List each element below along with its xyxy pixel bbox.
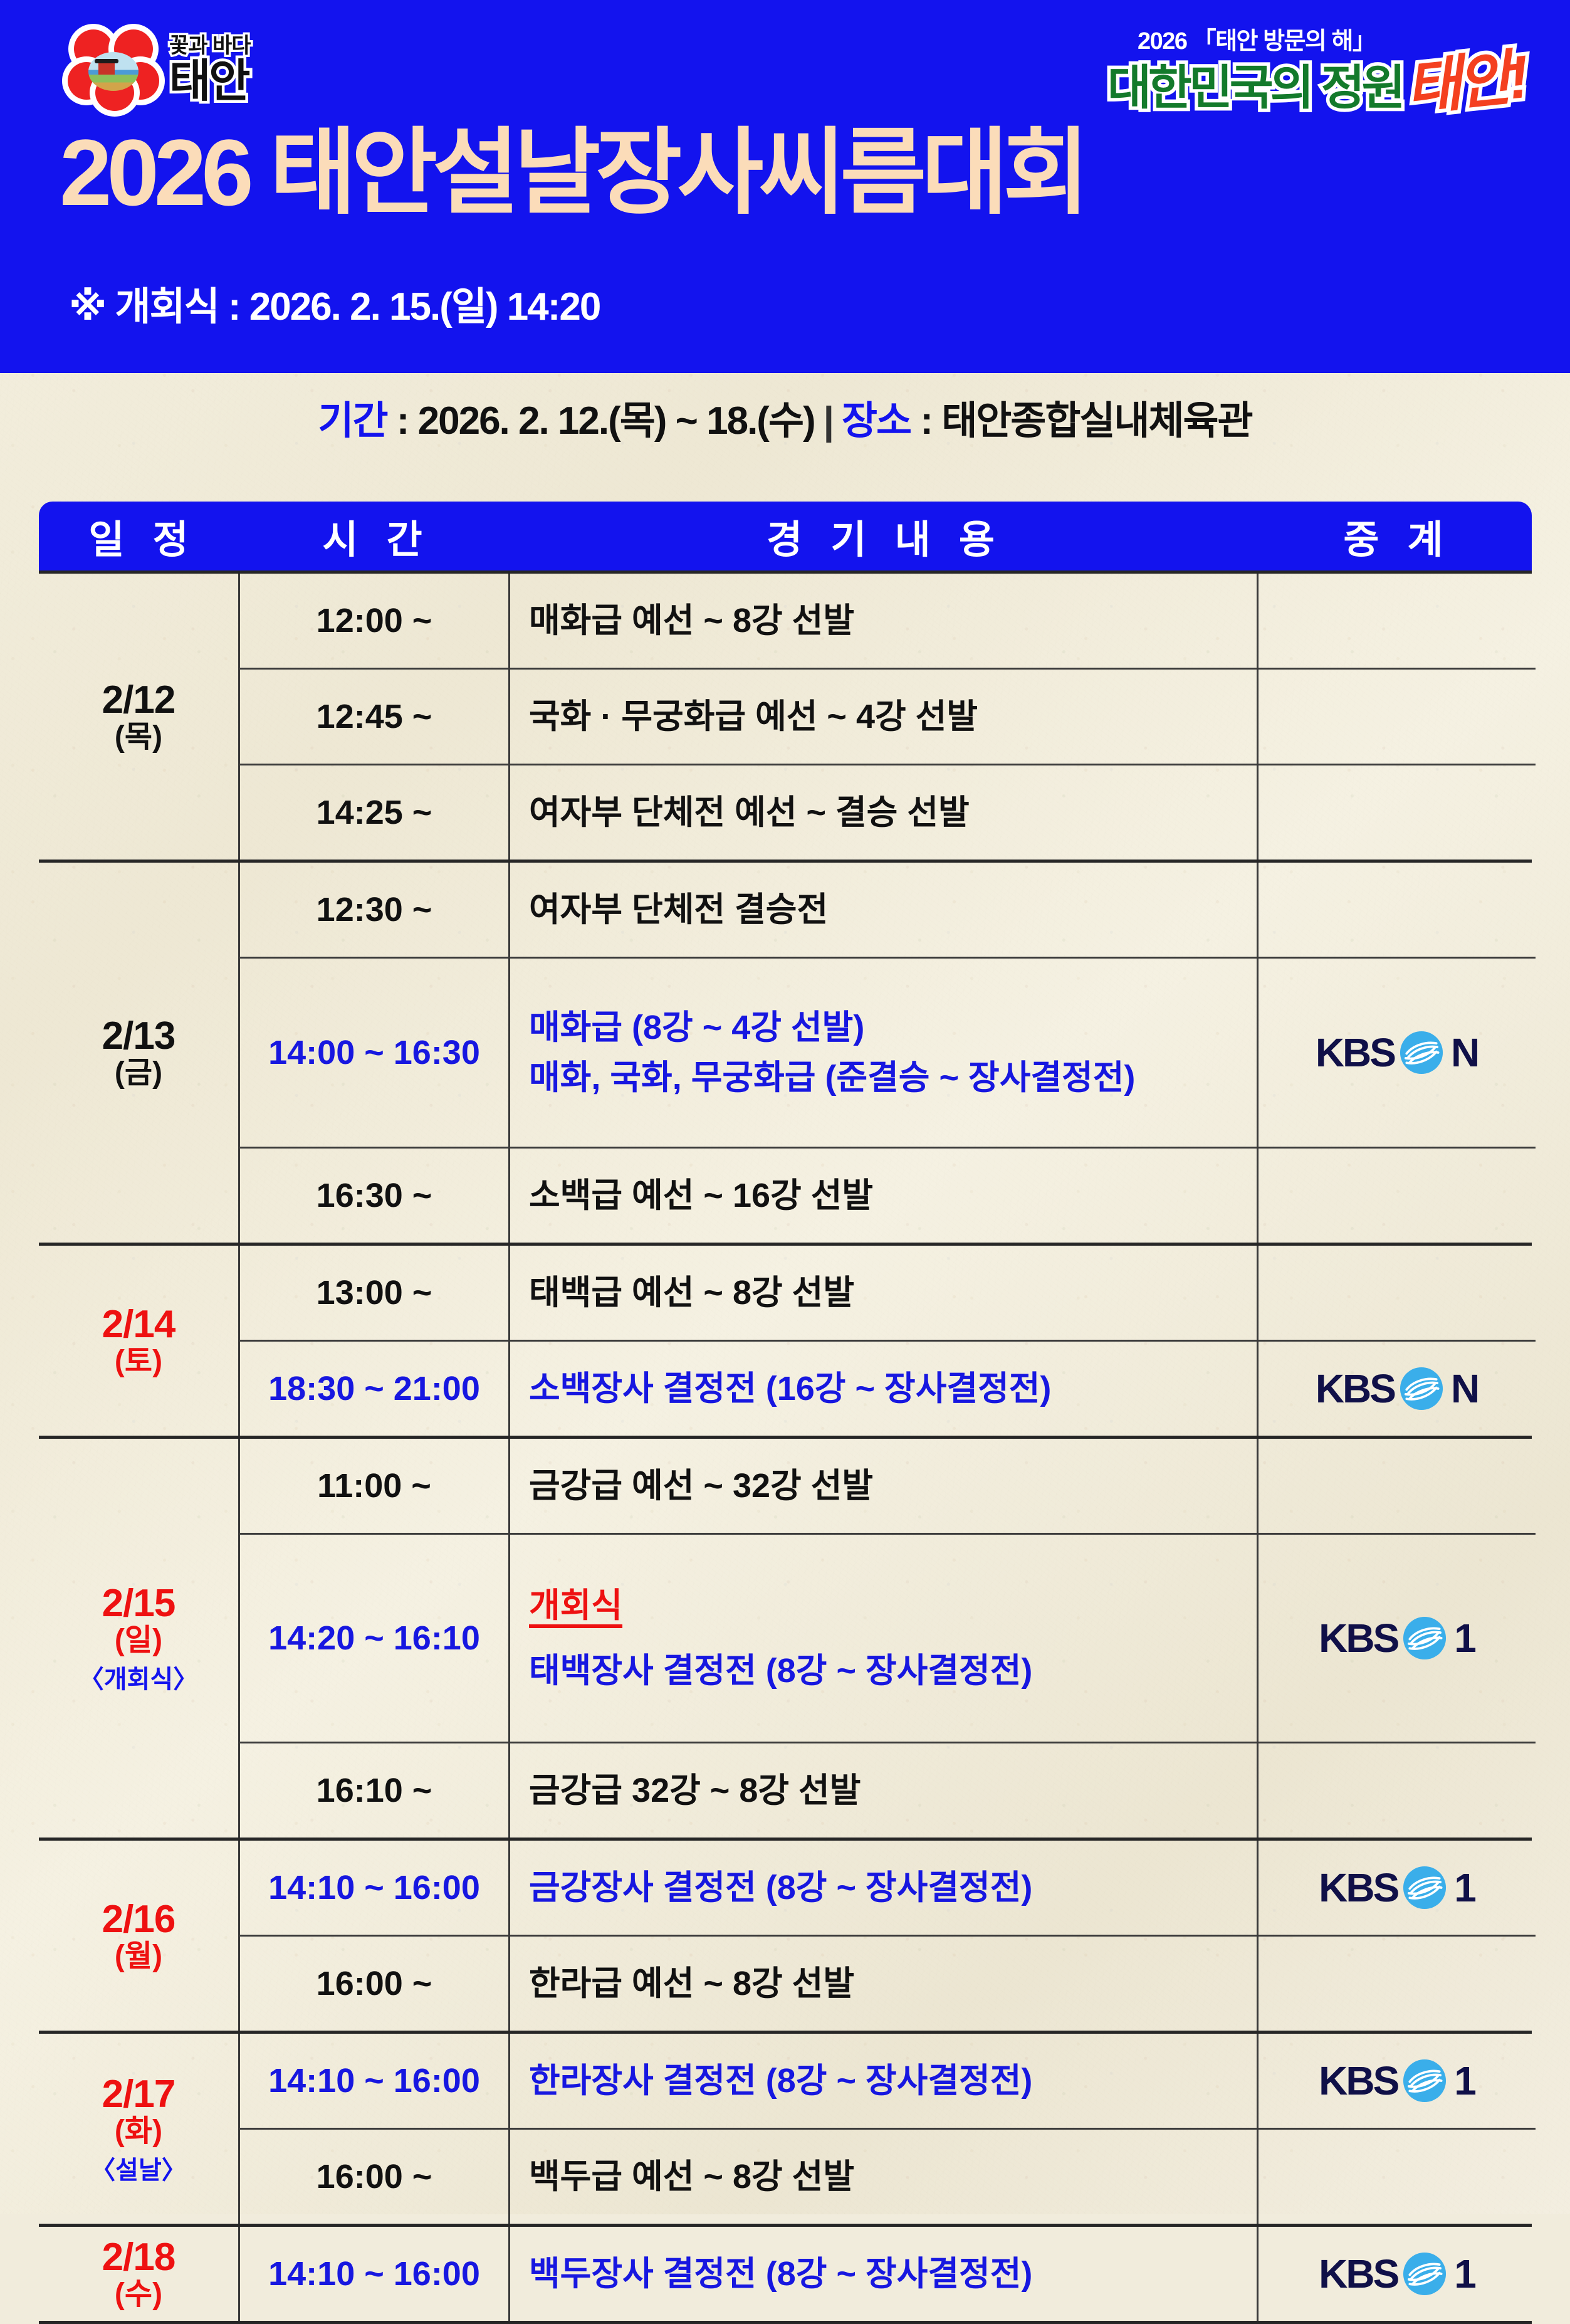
event-cell: 금강급 32강 ~ 8강 선발 — [510, 1743, 1259, 1838]
schedule-day-group: 2/15(일)〈개회식〉11:00 ~금강급 예선 ~ 32강 선발14:20 … — [39, 1439, 1532, 1841]
event-cell: 여자부 단체전 예선 ~ 결승 선발 — [510, 765, 1259, 860]
kbs-channel-suffix: 1 — [1454, 1615, 1475, 1661]
broadcast-cell — [1259, 765, 1536, 860]
event-cell: 소백장사 결정전 (16강 ~ 장사결정전) — [510, 1342, 1259, 1436]
time-cell: 14:00 ~ 16:30 — [240, 959, 510, 1147]
date-dayofweek: (금) — [115, 1058, 162, 1088]
event-text: 금강장사 결정전 (8강 ~ 장사결정전) — [529, 1863, 1032, 1912]
day-rows: 13:00 ~태백급 예선 ~ 8강 선발18:30 ~ 21:00소백장사 결… — [240, 1246, 1536, 1436]
kbs-wordmark: KBS — [1319, 2251, 1398, 2297]
date-dayofweek: (토) — [115, 1347, 162, 1377]
visit-taean-slogan-logo: 2026 「태안 방문의 해」 대한민국의 정원 태안! — [1107, 16, 1521, 117]
table-row: 12:30 ~여자부 단체전 결승전 — [240, 863, 1536, 959]
time-cell: 14:20 ~ 16:10 — [240, 1535, 510, 1742]
kbs-channel-suffix: N — [1451, 1029, 1478, 1076]
date-note: 〈개회식〉 — [79, 1667, 198, 1692]
broadcast-cell: KBS N — [1259, 1342, 1536, 1436]
event-cell: 소백급 예선 ~ 16강 선발 — [510, 1149, 1259, 1243]
page-title: 2026 태안설날장사씨름대회 — [60, 125, 1084, 219]
header-banner: 꽃과 바다 태안 2026 「태안 방문의 해」 대한민국의 정원 태안! 20… — [0, 0, 1570, 373]
table-row: 14:20 ~ 16:10개회식태백장사 결정전 (8강 ~ 장사결정전) KB… — [240, 1535, 1536, 1743]
event-cell: 백두장사 결정전 (8강 ~ 장사결정전) — [510, 2227, 1259, 2321]
venue-label: 장소 — [842, 399, 911, 443]
table-row: 12:00 ~매화급 예선 ~ 8강 선발 — [240, 574, 1536, 670]
opening-ceremony-note: ※ 개회식 : 2026. 2. 15.(일) 14:20 — [69, 275, 600, 331]
broadcast-cell: KBS N — [1259, 959, 1536, 1147]
kbs-swirl-icon — [1401, 2058, 1448, 2104]
broadcast-cell: KBS 1 — [1259, 1841, 1536, 1935]
kbs-wordmark: KBS — [1319, 1615, 1398, 1661]
event-text: 여자부 단체전 예선 ~ 결승 선발 — [529, 788, 970, 837]
time-cell: 12:00 ~ — [240, 574, 510, 668]
broadcast-cell: KBS 1 — [1259, 2227, 1536, 2321]
kbs-swirl-icon — [1401, 1615, 1448, 1661]
event-cell: 개회식태백장사 결정전 (8강 ~ 장사결정전) — [510, 1535, 1259, 1742]
schedule-table: 일 정 시 간 경 기 내 용 중 계 2/12(목)12:00 ~매화급 예선… — [39, 502, 1532, 2324]
slogan-taean-word: 태안! — [1401, 28, 1529, 127]
broadcast-cell — [1259, 2130, 1536, 2224]
event-cell: 여자부 단체전 결승전 — [510, 863, 1259, 957]
date-dayofweek: (수) — [115, 2279, 162, 2310]
flower-icon — [68, 26, 160, 113]
event-text: 매화급 (8강 ~ 4강 선발) — [529, 1003, 864, 1052]
event-text: 금강급 예선 ~ 32강 선발 — [529, 1461, 873, 1510]
slogan-main-line: 대한민국의 정원 — [1107, 49, 1403, 118]
time-cell: 11:00 ~ — [240, 1439, 510, 1533]
table-row: 16:00 ~한라급 예선 ~ 8강 선발 — [240, 1937, 1536, 2031]
event-cell: 태백급 예선 ~ 8강 선발 — [510, 1246, 1259, 1340]
date-number: 2/15 — [102, 1584, 175, 1623]
event-text: 국화 · 무궁화급 예선 ~ 4강 선발 — [529, 692, 978, 741]
schedule-day-group: 2/17(화)〈설날〉14:10 ~ 16:00한라장사 결정전 (8강 ~ 장… — [39, 2034, 1532, 2227]
column-header-date: 일 정 — [39, 502, 238, 570]
date-number: 2/13 — [102, 1017, 175, 1056]
kbs-wordmark: KBS — [1319, 1864, 1398, 1911]
time-cell: 16:30 ~ — [240, 1149, 510, 1243]
time-cell: 16:10 ~ — [240, 1743, 510, 1838]
broadcast-cell — [1259, 1149, 1536, 1243]
table-header-row: 일 정 시 간 경 기 내 용 중 계 — [39, 502, 1532, 570]
event-text: 백두장사 결정전 (8강 ~ 장사결정전) — [529, 2249, 1032, 2298]
date-number: 2/12 — [102, 681, 175, 720]
kbs-channel-suffix: 1 — [1454, 2058, 1475, 2104]
kbs-logo: KBS 1 — [1319, 2058, 1475, 2104]
table-row: 13:00 ~태백급 예선 ~ 8강 선발 — [240, 1246, 1536, 1342]
date-note: 〈설날〉 — [90, 2158, 187, 2183]
kbs-channel-suffix: N — [1451, 1365, 1478, 1412]
kbs-swirl-icon — [1401, 2251, 1448, 2297]
period-value: 2026. 2. 12.(목) ~ 18.(수) — [418, 399, 815, 443]
kbs-logo: KBS 1 — [1319, 1864, 1475, 1911]
event-text-secondary: 매화, 국화, 무궁화급 (준결승 ~ 장사결정전) — [529, 1053, 1135, 1102]
time-cell: 16:00 ~ — [240, 1937, 510, 2031]
time-cell: 12:30 ~ — [240, 863, 510, 957]
table-row: 14:10 ~ 16:00백두장사 결정전 (8강 ~ 장사결정전) KBS 1 — [240, 2227, 1536, 2321]
event-text: 태백장사 결정전 (8강 ~ 장사결정전) — [529, 1646, 1032, 1695]
kbs-logo: KBS 1 — [1319, 2251, 1475, 2297]
date-number: 2/17 — [102, 2075, 175, 2114]
schedule-day-group: 2/13(금)12:30 ~여자부 단체전 결승전14:00 ~ 16:30매화… — [39, 863, 1532, 1246]
event-text: 태백급 예선 ~ 8강 선발 — [529, 1268, 854, 1317]
kbs-logo: KBS 1 — [1319, 1615, 1475, 1661]
table-row: 16:30 ~소백급 예선 ~ 16강 선발 — [240, 1149, 1536, 1243]
kbs-channel-suffix: 1 — [1454, 1864, 1475, 1911]
event-text: 여자부 단체전 결승전 — [529, 885, 828, 934]
taean-city-emblem: 꽃과 바다 태안 — [68, 23, 281, 117]
broadcast-cell — [1259, 1743, 1536, 1838]
event-cell: 국화 · 무궁화급 예선 ~ 4강 선발 — [510, 670, 1259, 764]
kbs-swirl-icon — [1398, 1029, 1445, 1076]
event-text: 소백장사 결정전 (16강 ~ 장사결정전) — [529, 1364, 1051, 1413]
day-rows: 12:00 ~매화급 예선 ~ 8강 선발12:45 ~국화 · 무궁화급 예선… — [240, 574, 1536, 860]
table-row: 11:00 ~금강급 예선 ~ 32강 선발 — [240, 1439, 1536, 1535]
day-rows: 14:10 ~ 16:00백두장사 결정전 (8강 ~ 장사결정전) KBS 1 — [240, 2227, 1536, 2321]
event-cell: 한라장사 결정전 (8강 ~ 장사결정전) — [510, 2034, 1259, 2128]
column-header-time: 시 간 — [238, 502, 506, 570]
broadcast-cell — [1259, 1937, 1536, 2031]
schedule-day-group: 2/12(목)12:00 ~매화급 예선 ~ 8강 선발12:45 ~국화 · … — [39, 574, 1532, 863]
event-cell: 백두급 예선 ~ 8강 선발 — [510, 2130, 1259, 2224]
day-rows: 14:10 ~ 16:00금강장사 결정전 (8강 ~ 장사결정전) KBS 1… — [240, 1841, 1536, 2031]
table-row: 14:25 ~여자부 단체전 예선 ~ 결승 선발 — [240, 765, 1536, 860]
date-cell: 2/14(토) — [39, 1246, 240, 1436]
column-header-event: 경 기 내 용 — [506, 502, 1255, 570]
broadcast-cell — [1259, 1246, 1536, 1340]
info-separator: | — [815, 399, 842, 443]
event-text: 금강급 32강 ~ 8강 선발 — [529, 1766, 861, 1815]
date-cell: 2/12(목) — [39, 574, 240, 860]
kbs-swirl-icon — [1401, 1864, 1448, 1911]
opening-ceremony-label: 개회식 — [529, 1581, 622, 1630]
venue-value: 태안종합실내체육관 — [941, 399, 1252, 443]
table-body: 2/12(목)12:00 ~매화급 예선 ~ 8강 선발12:45 ~국화 · … — [39, 570, 1532, 2324]
table-row: 14:00 ~ 16:30매화급 (8강 ~ 4강 선발)매화, 국화, 무궁화… — [240, 959, 1536, 1149]
schedule-day-group: 2/16(월)14:10 ~ 16:00금강장사 결정전 (8강 ~ 장사결정전… — [39, 1841, 1532, 2034]
time-cell: 14:10 ~ 16:00 — [240, 2034, 510, 2128]
event-text: 백두급 예선 ~ 8강 선발 — [529, 2152, 854, 2201]
broadcast-cell — [1259, 863, 1536, 957]
time-cell: 12:45 ~ — [240, 670, 510, 764]
period-label: 기간 — [318, 399, 387, 443]
kbs-channel-suffix: 1 — [1454, 2251, 1475, 2297]
broadcast-cell — [1259, 574, 1536, 668]
time-cell: 18:30 ~ 21:00 — [240, 1342, 510, 1436]
day-rows: 12:30 ~여자부 단체전 결승전14:00 ~ 16:30매화급 (8강 ~… — [240, 863, 1536, 1243]
event-text: 한라급 예선 ~ 8강 선발 — [529, 1959, 854, 2008]
emblem-tagline: 꽃과 바다 — [169, 35, 251, 56]
period-venue-line: 기간 : 2026. 2. 12.(목) ~ 18.(수)|장소 : 태안종합실… — [0, 389, 1570, 445]
broadcast-cell: KBS 1 — [1259, 2034, 1536, 2128]
schedule-day-group: 2/14(토)13:00 ~태백급 예선 ~ 8강 선발18:30 ~ 21:0… — [39, 1246, 1532, 1439]
table-row: 14:10 ~ 16:00한라장사 결정전 (8강 ~ 장사결정전) KBS 1 — [240, 2034, 1536, 2130]
table-row: 18:30 ~ 21:00소백장사 결정전 (16강 ~ 장사결정전) KBS … — [240, 1342, 1536, 1436]
kbs-wordmark: KBS — [1316, 1029, 1395, 1076]
date-dayofweek: (화) — [115, 2116, 162, 2147]
date-number: 2/14 — [102, 1305, 175, 1344]
date-number: 2/16 — [102, 1900, 175, 1939]
event-cell: 매화급 예선 ~ 8강 선발 — [510, 574, 1259, 668]
time-cell: 16:00 ~ — [240, 2130, 510, 2224]
time-cell: 14:10 ~ 16:00 — [240, 2227, 510, 2321]
date-cell: 2/15(일)〈개회식〉 — [39, 1439, 240, 1838]
broadcast-cell — [1259, 1439, 1536, 1533]
date-cell: 2/16(월) — [39, 1841, 240, 2031]
date-dayofweek: (목) — [115, 722, 162, 752]
day-rows: 14:10 ~ 16:00한라장사 결정전 (8강 ~ 장사결정전) KBS 1… — [240, 2034, 1536, 2224]
time-cell: 14:10 ~ 16:00 — [240, 1841, 510, 1935]
date-cell: 2/17(화)〈설날〉 — [39, 2034, 240, 2224]
broadcast-cell — [1259, 670, 1536, 764]
table-row: 12:45 ~국화 · 무궁화급 예선 ~ 4강 선발 — [240, 670, 1536, 765]
time-cell: 13:00 ~ — [240, 1246, 510, 1340]
date-dayofweek: (일) — [115, 1626, 162, 1656]
broadcast-cell: KBS 1 — [1259, 1535, 1536, 1742]
emblem-name: 태안 — [169, 59, 251, 104]
date-cell: 2/18(수) — [39, 2227, 240, 2321]
kbs-logo: KBS N — [1316, 1365, 1478, 1412]
day-rows: 11:00 ~금강급 예선 ~ 32강 선발14:20 ~ 16:10개회식태백… — [240, 1439, 1536, 1838]
event-text: 소백급 예선 ~ 16강 선발 — [529, 1171, 873, 1220]
table-row: 16:10 ~금강급 32강 ~ 8강 선발 — [240, 1743, 1536, 1838]
date-cell: 2/13(금) — [39, 863, 240, 1243]
schedule-day-group: 2/18(수)14:10 ~ 16:00백두장사 결정전 (8강 ~ 장사결정전… — [39, 2227, 1532, 2324]
column-header-broadcast: 중 계 — [1255, 502, 1532, 570]
kbs-wordmark: KBS — [1319, 2058, 1398, 2104]
date-dayofweek: (월) — [115, 1942, 162, 1972]
date-number: 2/18 — [102, 2238, 175, 2277]
kbs-wordmark: KBS — [1316, 1365, 1395, 1412]
kbs-swirl-icon — [1398, 1365, 1445, 1412]
event-text: 매화급 예선 ~ 8강 선발 — [529, 596, 854, 645]
event-cell: 한라급 예선 ~ 8강 선발 — [510, 1937, 1259, 2031]
kbs-logo: KBS N — [1316, 1029, 1478, 1076]
event-cell: 금강장사 결정전 (8강 ~ 장사결정전) — [510, 1841, 1259, 1935]
event-cell: 금강급 예선 ~ 32강 선발 — [510, 1439, 1259, 1533]
table-row: 14:10 ~ 16:00금강장사 결정전 (8강 ~ 장사결정전) KBS 1 — [240, 1841, 1536, 1937]
table-row: 16:00 ~백두급 예선 ~ 8강 선발 — [240, 2130, 1536, 2224]
time-cell: 14:25 ~ — [240, 765, 510, 860]
event-cell: 매화급 (8강 ~ 4강 선발)매화, 국화, 무궁화급 (준결승 ~ 장사결정… — [510, 959, 1259, 1147]
event-text: 한라장사 결정전 (8강 ~ 장사결정전) — [529, 2056, 1032, 2105]
